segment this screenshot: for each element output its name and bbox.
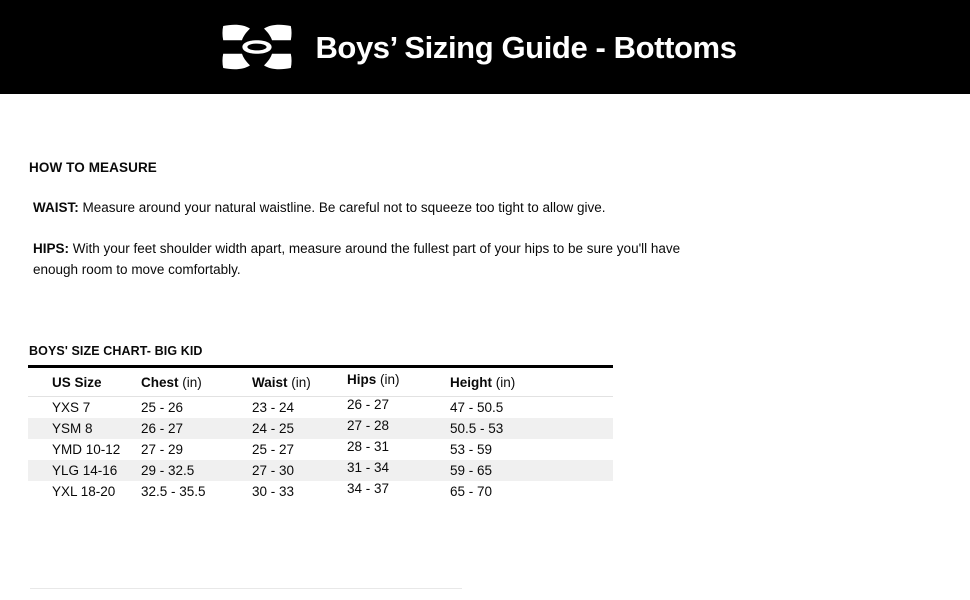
page-title: Boys’ Sizing Guide - Bottoms: [315, 32, 736, 63]
measure-item-hips: HIPS: With your feet shoulder width apar…: [33, 238, 705, 280]
cell-height: 65 - 70: [450, 481, 613, 502]
table-row: YLG 14-16 29 - 32.5 27 - 30 31 - 34 59 -…: [28, 460, 613, 481]
column-header-hips: Hips (in): [347, 368, 450, 397]
measure-text-waist: Measure around your natural waistline. B…: [79, 200, 606, 215]
measure-label-waist: WAIST:: [33, 200, 79, 215]
cell-waist: 30 - 33: [252, 481, 347, 502]
column-header-height: Height (in): [450, 368, 613, 397]
cell-us-size: YXL 18-20: [28, 481, 141, 502]
cell-hips-value: 27 - 28: [347, 415, 389, 436]
cell-height: 47 - 50.5: [450, 397, 613, 419]
measure-text-hips: With your feet shoulder width apart, mea…: [33, 241, 680, 277]
column-header-unit: (in): [179, 375, 202, 390]
size-chart-table: US Size Chest (in) Waist (in) Hips (in) …: [28, 368, 613, 502]
table-header-row: US Size Chest (in) Waist (in) Hips (in) …: [28, 368, 613, 397]
cell-chest: 27 - 29: [141, 439, 252, 460]
column-header-waist: Waist (in): [252, 368, 347, 397]
cell-us-size: YSM 8: [28, 418, 141, 439]
cell-chest: 26 - 27: [141, 418, 252, 439]
cell-height: 59 - 65: [450, 460, 613, 481]
column-header-us-size: US Size: [28, 368, 141, 397]
cell-waist: 27 - 30: [252, 460, 347, 481]
column-header-label: Height: [450, 375, 492, 390]
how-to-measure-section: HOW TO MEASURE WAIST: Measure around you…: [29, 160, 729, 280]
cell-hips-value: 26 - 27: [347, 394, 389, 415]
column-header-label: Waist: [252, 375, 288, 390]
cell-height: 53 - 59: [450, 439, 613, 460]
table-row: YMD 10-12 27 - 29 25 - 27 28 - 31 53 - 5…: [28, 439, 613, 460]
cell-chest: 25 - 26: [141, 397, 252, 419]
column-header-chest: Chest (in): [141, 368, 252, 397]
cell-waist: 24 - 25: [252, 418, 347, 439]
cell-hips: 34 - 37: [347, 481, 450, 502]
cell-waist: 23 - 24: [252, 397, 347, 419]
size-chart-section: BOYS' SIZE CHART- BIG KID US Size Chest …: [28, 344, 614, 502]
under-armour-logo-icon: [221, 23, 293, 71]
measure-label-hips: HIPS:: [33, 241, 69, 256]
column-header-unit: (in): [376, 372, 399, 387]
cell-height: 50.5 - 53: [450, 418, 613, 439]
cell-us-size: YMD 10-12: [28, 439, 141, 460]
cell-us-size: YLG 14-16: [28, 460, 141, 481]
cell-chest: 32.5 - 35.5: [141, 481, 252, 502]
header-inner: Boys’ Sizing Guide - Bottoms: [221, 23, 736, 71]
column-header-unit: (in): [288, 375, 311, 390]
column-header-label: US Size: [52, 375, 102, 390]
size-chart-title: BOYS' SIZE CHART- BIG KID: [29, 344, 614, 358]
table-row: YXL 18-20 32.5 - 35.5 30 - 33 34 - 37 65…: [28, 481, 613, 502]
bottom-divider: [30, 588, 462, 589]
cell-waist: 25 - 27: [252, 439, 347, 460]
cell-hips-value: 28 - 31: [347, 436, 389, 457]
cell-chest: 29 - 32.5: [141, 460, 252, 481]
cell-us-size: YXS 7: [28, 397, 141, 419]
how-to-measure-heading: HOW TO MEASURE: [29, 160, 729, 175]
column-header-label: Chest: [141, 375, 179, 390]
page-header: Boys’ Sizing Guide - Bottoms: [0, 0, 970, 94]
measure-item-waist: WAIST: Measure around your natural waist…: [33, 197, 705, 218]
column-header-unit: (in): [492, 375, 515, 390]
column-header-label: Hips: [347, 372, 376, 387]
size-chart-body: YXS 7 25 - 26 23 - 24 26 - 27 47 - 50.5 …: [28, 397, 613, 503]
cell-hips-value: 34 - 37: [347, 478, 389, 499]
table-row: YXS 7 25 - 26 23 - 24 26 - 27 47 - 50.5: [28, 397, 613, 419]
cell-hips-value: 31 - 34: [347, 457, 389, 478]
table-row: YSM 8 26 - 27 24 - 25 27 - 28 50.5 - 53: [28, 418, 613, 439]
